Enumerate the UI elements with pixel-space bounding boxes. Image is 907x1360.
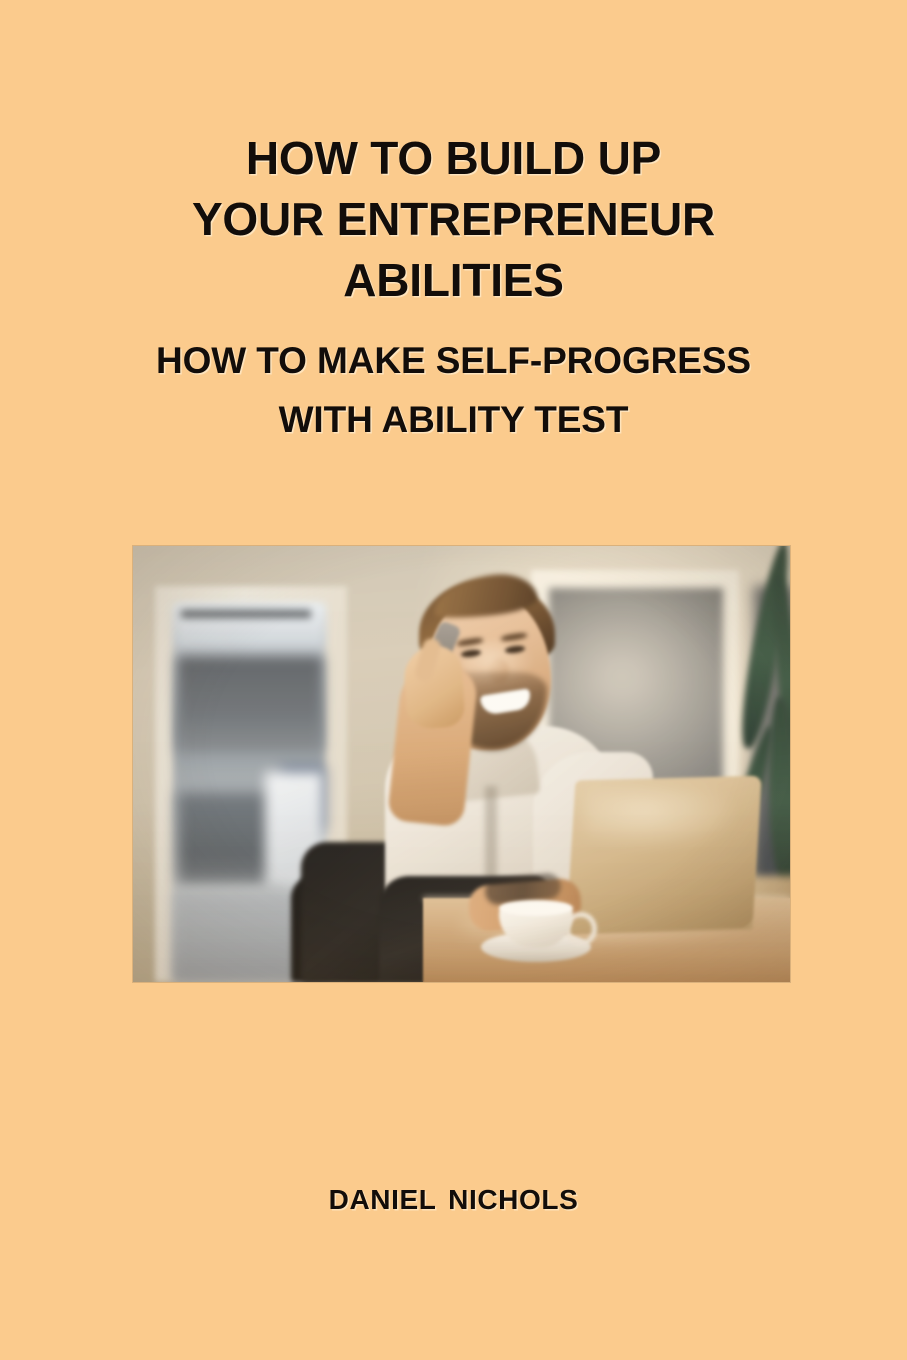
book-subtitle: HOW TO MAKE SELF-PROGRESS WITH ABILITY T… — [0, 331, 907, 449]
title-line-1: HOW TO BUILD UP — [0, 128, 907, 189]
author-name: Daniel Nichols — [329, 1172, 579, 1220]
book-cover: HOW TO BUILD UP YOUR ENTREPRENEUR ABILIT… — [0, 0, 907, 1360]
subtitle-line-2: WITH ABILITY TEST — [0, 390, 907, 449]
photo-vignette — [133, 546, 790, 982]
subtitle-line-1: HOW TO MAKE SELF-PROGRESS — [0, 331, 907, 390]
title-line-3: ABILITIES — [0, 250, 907, 311]
title-line-2: YOUR ENTREPRENEUR — [0, 189, 907, 250]
book-title: HOW TO BUILD UP YOUR ENTREPRENEUR ABILIT… — [0, 128, 907, 311]
author-block: Daniel Nichols — [0, 1172, 907, 1220]
cover-photo — [133, 546, 790, 982]
